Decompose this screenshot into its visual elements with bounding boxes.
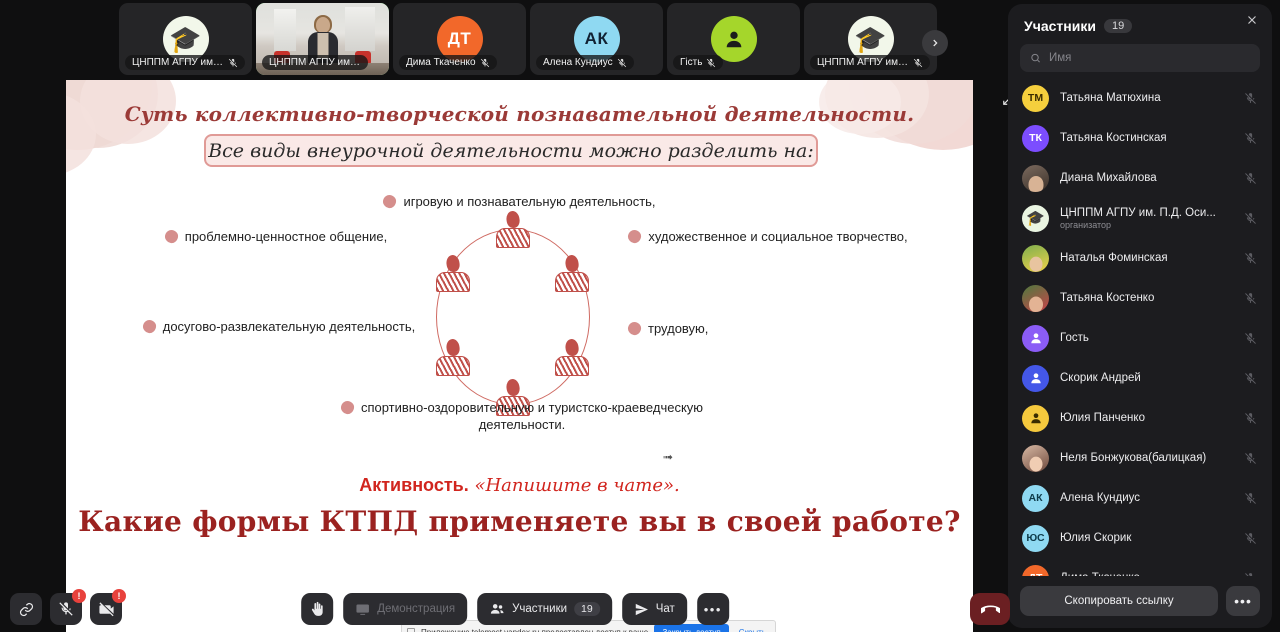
bullet-dot-icon	[382, 194, 397, 209]
participant-name: Диана Михайлова	[1060, 172, 1233, 184]
mic-off-icon	[617, 58, 627, 68]
avatar: 🎓	[1022, 205, 1049, 232]
graduation-cap-icon: 🎓	[854, 26, 887, 52]
participant-row[interactable]: Диана Михайлова	[1014, 158, 1266, 198]
mic-off-icon	[1244, 332, 1258, 345]
participants-button[interactable]: Участники 19	[477, 593, 612, 625]
avatar: ТМ	[1022, 85, 1049, 112]
bullet-dot-icon	[340, 400, 355, 415]
thumbnail-label: Гість	[673, 55, 723, 70]
participant-name: ЦНППМ АГПУ им. П.Д. Оси...	[1060, 207, 1233, 219]
people-circle-graphic	[418, 215, 608, 415]
avatar-initials: ДТ	[448, 29, 472, 49]
participants-panel: Участники 19 ТМ Татьяна Матюхина ТК Тать…	[1008, 4, 1272, 628]
hangup-icon	[981, 600, 1000, 619]
mic-off-icon	[1244, 212, 1258, 225]
copy-invite-link-button[interactable]	[10, 593, 42, 625]
mic-off-icon	[1244, 132, 1258, 145]
slide-bullet-problemno: проблемно-ценностное общение,	[142, 228, 410, 245]
thumbnail-name: Дима Ткаченко	[406, 57, 476, 68]
figure-icon	[553, 255, 591, 295]
bullet-text: трудовую,	[648, 321, 708, 336]
participant-name: Татьяна Костинская	[1060, 132, 1233, 144]
participant-name: Наталья Фоминская	[1060, 252, 1233, 264]
thumbnail-label: ЦНППМ АГПУ им. П.Д...	[262, 55, 368, 70]
avatar-initials: АК	[585, 29, 609, 49]
mic-off-icon	[1244, 452, 1258, 465]
mic-off-icon	[1244, 412, 1258, 425]
avatar	[1022, 245, 1049, 272]
participants-button-label: Участники	[512, 603, 567, 615]
mouse-cursor: ➟	[663, 450, 673, 464]
mic-off-icon	[228, 58, 238, 68]
participant-row[interactable]: Гость	[1014, 318, 1266, 358]
participants-search-box[interactable]	[1020, 44, 1260, 72]
thumbnail-name: Гість	[680, 57, 702, 68]
close-icon[interactable]	[1242, 10, 1262, 30]
avatar-initials: ТМ	[1028, 92, 1043, 104]
participant-row-organizer[interactable]: 🎓 ЦНППМ АГПУ им. П.Д. Оси... организатор	[1014, 198, 1266, 238]
thumbnail-tile[interactable]: 🎓 ЦНППМ АГПУ им. ...	[119, 3, 252, 75]
slide-bullet-sportivno: спортивно-оздоровительную и туристско-кр…	[302, 399, 742, 433]
participant-row[interactable]: Татьяна Костенко	[1014, 278, 1266, 318]
camera-alert-badge: !	[112, 589, 126, 603]
thumbnail-tile[interactable]: ДТ Дима Ткаченко	[393, 3, 526, 75]
participant-name: Татьяна Костенко	[1060, 292, 1233, 304]
participant-row[interactable]: Скорик Андрей	[1014, 358, 1266, 398]
mic-off-icon	[706, 58, 716, 68]
thumbnail-name: ЦНППМ АГПУ им. ...	[817, 57, 909, 68]
hangup-button[interactable]	[970, 593, 1010, 625]
mic-off-icon	[1244, 172, 1258, 185]
participants-list[interactable]: ТМ Татьяна Матюхина ТК Татьяна Костинска…	[1008, 78, 1272, 576]
toolbar-right-group	[970, 593, 1010, 625]
participant-row[interactable]: Юлия Панченко	[1014, 398, 1266, 438]
bullet-text: художественное и социальное творчество,	[648, 229, 907, 244]
slide-title: Суть коллективно-творческой познавательн…	[66, 102, 973, 126]
person-icon	[1029, 331, 1043, 345]
bullet-text: досугово-развлекательную деятельность,	[163, 319, 416, 334]
bullet-dot-icon	[142, 319, 157, 334]
chevron-right-icon	[930, 38, 940, 48]
participant-name: Юлия Скорик	[1060, 532, 1233, 544]
avatar: ТК	[1022, 125, 1049, 152]
more-options-label: •••	[704, 602, 722, 617]
bullet-dot-icon	[627, 321, 642, 336]
activity-quote-text: «Напишите в чате».	[474, 475, 679, 496]
link-icon	[19, 602, 34, 617]
screen-share-icon	[355, 602, 370, 617]
participant-name: Юлия Панченко	[1060, 412, 1233, 424]
avatar-initials: ЮС	[1026, 532, 1044, 544]
participant-row[interactable]: Наталья Фоминская	[1014, 238, 1266, 278]
panel-more-button[interactable]: •••	[1226, 586, 1260, 616]
thumbnail-label: ЦНППМ АГПУ им. ...	[810, 55, 930, 70]
copy-link-button[interactable]: Скопировать ссылку	[1020, 586, 1218, 616]
camera-off-icon	[98, 601, 115, 618]
bullet-text: спортивно-оздоровительную и туристско-кр…	[361, 400, 703, 432]
telemost-app-window: 🎓 ЦНППМ АГПУ им. ... ЦНППМ АГПУ им. П.Д.…	[0, 0, 1280, 632]
thumbnail-tile-active[interactable]: ЦНППМ АГПУ им. П.Д...	[256, 3, 389, 75]
mic-off-icon	[480, 58, 490, 68]
mic-off-icon	[1244, 372, 1258, 385]
graduation-cap-icon: 🎓	[169, 26, 202, 52]
search-input[interactable]	[1049, 52, 1250, 64]
raise-hand-icon	[309, 601, 326, 618]
presentation-slide: Суть коллективно-творческой познавательн…	[66, 80, 973, 632]
toolbar-center-group: Демонстрация Участники 19 Чат •••	[301, 593, 729, 625]
figure-icon	[434, 339, 472, 379]
mic-off-icon	[1244, 92, 1258, 105]
thumbnails-next-button[interactable]	[922, 30, 948, 56]
participants-panel-header: Участники 19	[1008, 4, 1272, 42]
avatar: ЮС	[1022, 525, 1049, 552]
avatar-initials: ДТ	[1029, 572, 1043, 576]
participants-panel-footer: Скопировать ссылку •••	[1008, 576, 1272, 628]
raise-hand-button[interactable]	[301, 593, 333, 625]
avatar	[1022, 285, 1049, 312]
avatar: АК	[1022, 485, 1049, 512]
figure-icon	[553, 339, 591, 379]
bullet-text: проблемно-ценностное общение,	[185, 229, 387, 244]
search-icon	[1030, 52, 1041, 64]
participants-count-badge: 19	[1104, 19, 1132, 33]
participants-button-count: 19	[574, 602, 600, 616]
avatar: ДТ	[1022, 565, 1049, 577]
participant-name: Гость	[1060, 332, 1233, 344]
participant-thumbnail-strip: 🎓 ЦНППМ АГПУ им. ... ЦНППМ АГПУ им. П.Д.…	[0, 0, 1030, 78]
mic-off-icon	[58, 601, 74, 617]
participant-name: Татьяна Матюхина	[1060, 92, 1233, 104]
microphone-toggle-button[interactable]: !	[50, 593, 82, 625]
person-icon	[1029, 411, 1043, 425]
participant-name: Неля Бонжукова(балицкая)	[1060, 452, 1233, 464]
slide-bullet-igrovuyu: игровую и познавательную деятельность,	[66, 193, 973, 210]
mic-off-icon	[1244, 252, 1258, 265]
slide-bullet-hudozhestvennoe: художественное и социальное творчество,	[628, 228, 908, 245]
slide-bullet-dosugovo: досугово-развлекательную деятельность,	[134, 318, 424, 335]
person-icon	[1029, 371, 1043, 385]
shared-screen-stage: Суть коллективно-творческой познавательн…	[0, 78, 1030, 586]
thumbnail-name: ЦНППМ АГПУ им. П.Д...	[269, 57, 361, 68]
call-toolbar: ! ! Демонстрация Участники 19 Чат	[0, 586, 1030, 632]
slide-subtitle-box: Все виды внеурочной деятельности можно р…	[204, 134, 818, 167]
figure-icon	[494, 211, 532, 251]
participant-row[interactable]: Неля Бонжукова(балицкая)	[1014, 438, 1266, 478]
camera-toggle-button[interactable]: !	[90, 593, 122, 625]
participant-role: организатор	[1060, 220, 1233, 230]
mic-off-icon	[1244, 492, 1258, 505]
thumbnail-label: ЦНППМ АГПУ им. ...	[125, 55, 245, 70]
participants-panel-title: Участники	[1024, 18, 1096, 34]
avatar	[1022, 365, 1049, 392]
slide-bullet-trudovuyu: трудовую,	[628, 320, 708, 337]
avatar	[1022, 445, 1049, 472]
participant-row[interactable]: ТК Татьяна Костинская	[1014, 118, 1266, 158]
avatar	[1022, 405, 1049, 432]
mic-alert-badge: !	[72, 589, 86, 603]
mic-off-icon	[913, 58, 923, 68]
people-icon	[489, 601, 505, 617]
thumbnail-label: Дима Ткаченко	[399, 55, 497, 70]
mic-off-icon	[1244, 532, 1258, 545]
avatar-initials: ТК	[1029, 132, 1042, 144]
thumbnail-name: Алена Кундиус	[543, 57, 613, 68]
chat-button-label: Чат	[656, 603, 675, 615]
participant-name: Алена Кундиус	[1060, 492, 1233, 504]
participant-row[interactable]: ТМ Татьяна Матюхина	[1014, 78, 1266, 118]
slide-activity-line: Активность. «Напишите в чате».	[66, 475, 973, 496]
person-icon	[723, 28, 745, 50]
avatar	[1022, 325, 1049, 352]
figure-icon	[434, 255, 472, 295]
thumbnail-tile[interactable]: 🎓 ЦНППМ АГПУ им. ...	[804, 3, 937, 75]
send-icon	[634, 602, 649, 617]
mic-off-icon	[1244, 292, 1258, 305]
share-screen-label: Демонстрация	[377, 603, 455, 615]
participant-name: Скорик Андрей	[1060, 372, 1233, 384]
bullet-dot-icon	[627, 229, 642, 244]
avatar	[1022, 165, 1049, 192]
activity-bold-text: Активность.	[359, 475, 468, 495]
toolbar-left-group: ! !	[10, 593, 122, 625]
chat-button[interactable]: Чат	[622, 593, 687, 625]
share-screen-button[interactable]: Демонстрация	[343, 593, 467, 625]
bullet-dot-icon	[164, 229, 179, 244]
participant-row[interactable]: ЮС Юлия Скорик	[1014, 518, 1266, 558]
thumbnail-label: Алена Кундиус	[536, 55, 634, 70]
avatar-initials: АК	[1029, 492, 1043, 504]
slide-question: Какие формы КТПД применяете вы в своей р…	[66, 505, 973, 538]
participant-row[interactable]: ДТ Дима Ткаченко	[1014, 558, 1266, 576]
more-options-button[interactable]: •••	[697, 593, 729, 625]
slide-subtitle-text: Все виды внеурочной деятельности можно р…	[208, 140, 814, 162]
participant-row[interactable]: АК Алена Кундиус	[1014, 478, 1266, 518]
thumbnail-tile[interactable]: АК Алена Кундиус	[530, 3, 663, 75]
bullet-text: игровую и познавательную деятельность,	[403, 194, 655, 209]
thumbnail-name: ЦНППМ АГПУ им. ...	[132, 57, 224, 68]
thumbnail-tile[interactable]: Гість	[667, 3, 800, 75]
